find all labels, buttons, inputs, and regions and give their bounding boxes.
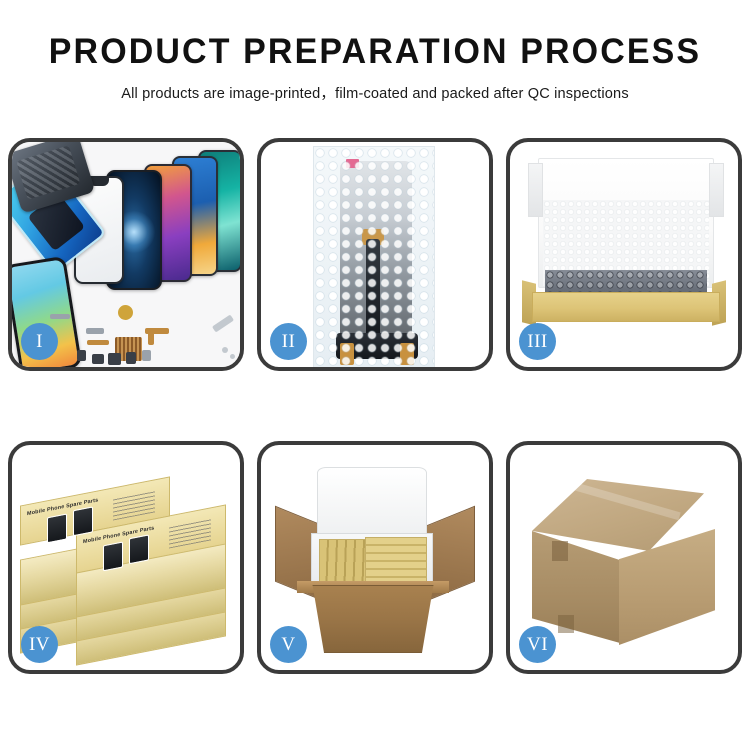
wrapped-connector-left [340,343,354,365]
carton-tape-patch-top [552,541,568,561]
wrapped-connector-right [400,343,414,365]
panel-step-5[interactable]: V [257,441,493,674]
box-thumbnail-left-a [47,513,67,543]
bubble-wrap-bag [313,146,435,367]
box-spec-lines-right [169,518,211,548]
carton-left-face [532,531,620,643]
process-panel-grid: I II III [8,138,742,694]
box-spec-lines-left [113,490,155,520]
panel-step-3[interactable]: III [506,138,742,371]
page-subtitle: All products are image-printed，film-coat… [0,82,750,103]
kraft-box-front [532,292,720,322]
screw-b [230,354,235,359]
panel-step-1[interactable]: I [8,138,244,371]
qc-sticker [346,159,359,168]
flex-cable-c [148,331,154,345]
small-part-b [77,350,86,361]
step-badge-6: VI [519,626,556,663]
vibration-motor [108,353,121,365]
small-part-a [86,328,104,334]
small-part-d [126,352,136,364]
screw-a [222,347,228,353]
panel-step-6[interactable]: VI [506,441,742,674]
small-part-c [92,354,104,364]
wrapped-flex-cable [366,239,380,343]
step-badge-2: II [270,323,307,360]
inner-yellow-boxes-stack [365,537,427,585]
step-badge-1: I [21,323,58,360]
panel-step-2[interactable]: II [257,138,493,371]
carton-tape-patch-bottom [558,615,574,633]
header: PRODUCT PREPARATION PROCESS All products… [0,0,750,103]
step-badge-3: III [519,323,556,360]
speaker-module-icon [118,305,133,320]
box-thumbnail-right-a [103,541,123,571]
flex-cable-a [87,340,109,345]
sim-tray [142,350,151,361]
step-badge-5: V [270,626,307,663]
panel-step-4[interactable]: Mobile Phone Spare Parts Mobile Phone Sp… [8,441,244,674]
foam-cooler-lid [317,467,427,539]
box-stack: Mobile Phone Spare Parts Mobile Phone Sp… [20,467,232,657]
page-title: PRODUCT PREPARATION PROCESS [11,34,739,71]
carton-front-panel [301,585,445,653]
step-badge-4: IV [21,626,58,663]
box-thumbnail-right-b [129,534,149,564]
box-thumbnail-left-b [73,506,93,536]
earpiece-mesh [50,314,70,319]
